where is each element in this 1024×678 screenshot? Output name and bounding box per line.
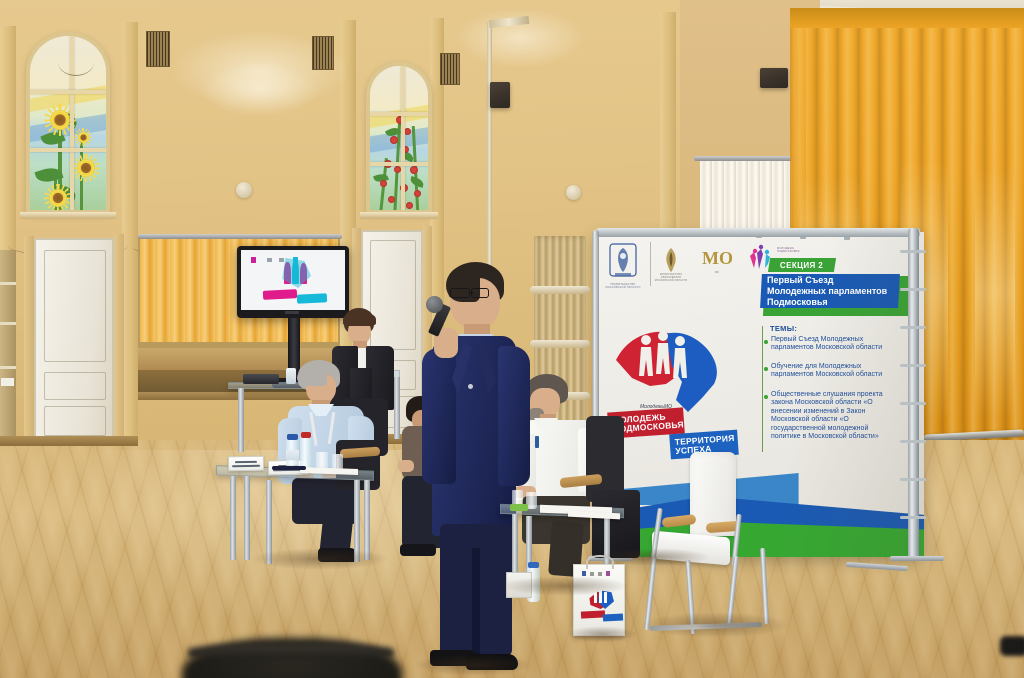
- suit-sleeve-left: [422, 348, 456, 484]
- painted-rose: [394, 166, 401, 173]
- microphone-head: [426, 296, 443, 313]
- painted-rose: [388, 196, 395, 203]
- banner-title-text: Первый Съезд Молодежных парламентов Подм…: [767, 275, 893, 308]
- wall-stain: [200, 62, 320, 117]
- logo-divider: [650, 242, 651, 286]
- radiator-pipe: [530, 340, 590, 348]
- theme-item: Первый Съезд Молодежных парламентов Моск…: [771, 336, 903, 353]
- wall-lamp: [236, 182, 252, 198]
- wall-lamp: [566, 185, 581, 200]
- baseboard: [0, 436, 138, 446]
- marker-pen: [272, 466, 306, 470]
- pen-in-pocket: [535, 436, 539, 448]
- frame-rung: [900, 402, 926, 405]
- lapel-pin: [468, 384, 473, 389]
- table-leg: [238, 388, 244, 452]
- door-panel: [44, 250, 106, 362]
- curtain-rail: [694, 156, 798, 161]
- logo-caption: МО: [696, 272, 738, 275]
- bag-logo-icon: [582, 571, 586, 576]
- frame-rung: [900, 478, 926, 481]
- glasses-lens-right: [471, 288, 489, 298]
- window-mullion: [370, 162, 428, 166]
- painted-rose: [406, 202, 413, 209]
- theme-bullet: [764, 367, 768, 371]
- slide-tag-magenta: [263, 289, 297, 300]
- shelf-line: [0, 322, 16, 325]
- wall-speaker: [760, 68, 788, 88]
- window-sill: [360, 212, 438, 219]
- bag-tag-red: [581, 610, 605, 618]
- painted-sunflower-center: [49, 189, 67, 207]
- frame-rung: [900, 364, 926, 367]
- frame-rung: [900, 440, 926, 443]
- logo-caption: МОЛОДЕЖЬ ПОДМОСКОВЬЯ: [777, 248, 811, 254]
- theme-bullet: [764, 395, 768, 399]
- bottle-cap: [528, 562, 539, 568]
- table-leg: [230, 476, 236, 560]
- window-sunflowers: [26, 32, 110, 214]
- suit-sleeve-right: [498, 346, 530, 486]
- speaker-with-microphone: [412, 262, 532, 678]
- shelf-item: [1, 378, 14, 386]
- green-folder: [510, 504, 528, 511]
- banner-title: Первый Съезд Молодежных парламентов Подм…: [760, 274, 900, 308]
- banner-frame-foot: [890, 556, 944, 561]
- hair-side: [297, 366, 327, 386]
- window-wire: [58, 48, 94, 76]
- shelf-line: [0, 366, 16, 369]
- themes-label: ТЕМЫ:: [770, 324, 797, 333]
- foreground-blurred-highlight: [188, 644, 394, 658]
- chair-shadow: [640, 612, 790, 638]
- bag-logo-icon: [606, 571, 610, 576]
- painted-sunflower-center: [77, 159, 95, 177]
- frame-rung: [900, 250, 926, 253]
- display-logo: [285, 311, 299, 314]
- frame-rung: [900, 516, 926, 519]
- slide-tag-cyan: [297, 293, 327, 304]
- shelf-line: [0, 282, 16, 285]
- painted-rose: [404, 128, 411, 135]
- bottle-label: [286, 450, 299, 460]
- painted-sunflower-center: [78, 132, 89, 143]
- themes-rule: [762, 326, 763, 452]
- wall-pilaster: [122, 22, 138, 442]
- section-tag: СЕКЦИЯ 2: [768, 258, 836, 272]
- frame-rung: [900, 326, 926, 329]
- vent-grille: [440, 53, 460, 85]
- hair-front: [343, 312, 376, 326]
- mo-monogram-logo: МО: [702, 246, 732, 270]
- glasses-lens-left: [450, 288, 470, 298]
- theme-item: Общественные слушания проекта закона Мос…: [771, 391, 899, 441]
- vent-grille: [312, 36, 334, 70]
- laptop[interactable]: [243, 374, 279, 384]
- photo-scene: ПРАВИТЕЛЬСТВО МОСКОВСКОЙ ОБЛАСТИ МИНИСТЕ…: [0, 0, 1024, 678]
- window-mullion: [30, 148, 106, 152]
- slide-icon: [251, 257, 256, 263]
- government-of-moscow-region-logo: [606, 242, 640, 286]
- display-screen: [241, 250, 345, 310]
- window-roses: [366, 62, 432, 214]
- radiator-pipe: [530, 286, 590, 294]
- bag-logo-icon: [590, 572, 594, 576]
- wall-pipe: [487, 22, 492, 272]
- slide-icon: [293, 257, 298, 263]
- left-shelf-unit: [0, 250, 16, 440]
- curtain-header: [790, 8, 1024, 28]
- trouser-gap: [472, 548, 480, 656]
- table-shadow: [250, 548, 390, 570]
- frame-rung: [900, 288, 926, 291]
- vent-grille: [146, 31, 170, 67]
- placard-text-line: [235, 460, 257, 462]
- banner-frame-post-right: [908, 228, 919, 560]
- theme-item: Обучение для Молодежных парламентов Моск…: [771, 363, 903, 380]
- ministry-logo: [660, 246, 682, 274]
- theme-bullet: [764, 340, 768, 344]
- chair-leg: [760, 548, 769, 624]
- wall-speaker: [490, 82, 510, 108]
- painted-sunflower-center: [50, 110, 70, 130]
- floor-shadow: [600, 548, 710, 566]
- curtain-sheen: [975, 168, 1015, 418]
- window-mullion: [370, 112, 428, 116]
- white-door-left[interactable]: [34, 238, 114, 442]
- painted-rose: [390, 136, 398, 144]
- white-chair[interactable]: [644, 452, 784, 632]
- table-shadow: [500, 576, 630, 596]
- table-leg: [364, 480, 370, 560]
- placard-text-line: [232, 464, 260, 466]
- window-mullion: [401, 66, 405, 210]
- glasses-bridge: [469, 292, 473, 294]
- table-leg: [244, 476, 250, 560]
- logo-caption: МИНИСТЕРСТВО ОБРАЗОВАНИЯ МОСКОВСКОЙ ОБЛА…: [652, 274, 690, 282]
- bag-shadow: [566, 626, 638, 642]
- foreground-shoe: [1000, 636, 1024, 656]
- slide-icon: [279, 258, 284, 262]
- curtain-rail: [138, 234, 342, 239]
- painted-rose: [414, 190, 421, 197]
- door-frame: [24, 236, 34, 442]
- door-panel: [44, 406, 106, 436]
- bottle-cap: [301, 432, 311, 438]
- water-bottle: [300, 436, 312, 470]
- bag-tag-blue: [603, 613, 623, 621]
- speaker-shadow: [414, 654, 534, 676]
- painted-rose: [380, 180, 387, 187]
- window-sill: [20, 212, 116, 219]
- name-placard: [228, 456, 264, 472]
- svg-text:МО: МО: [702, 248, 732, 268]
- logo-caption: ПРАВИТЕЛЬСТВО МОСКОВСКОЙ ОБЛАСТИ: [602, 284, 644, 290]
- door-panel: [44, 372, 106, 400]
- section-tag-label: СЕКЦИЯ 2: [780, 261, 823, 270]
- window-mullion: [30, 90, 106, 94]
- bag-logo-icon: [598, 572, 602, 576]
- painted-rose: [410, 166, 418, 174]
- banner-frame-top: [596, 228, 920, 237]
- bottle-cap: [287, 434, 298, 440]
- slide-icon: [267, 258, 272, 262]
- door-frame: [114, 234, 124, 442]
